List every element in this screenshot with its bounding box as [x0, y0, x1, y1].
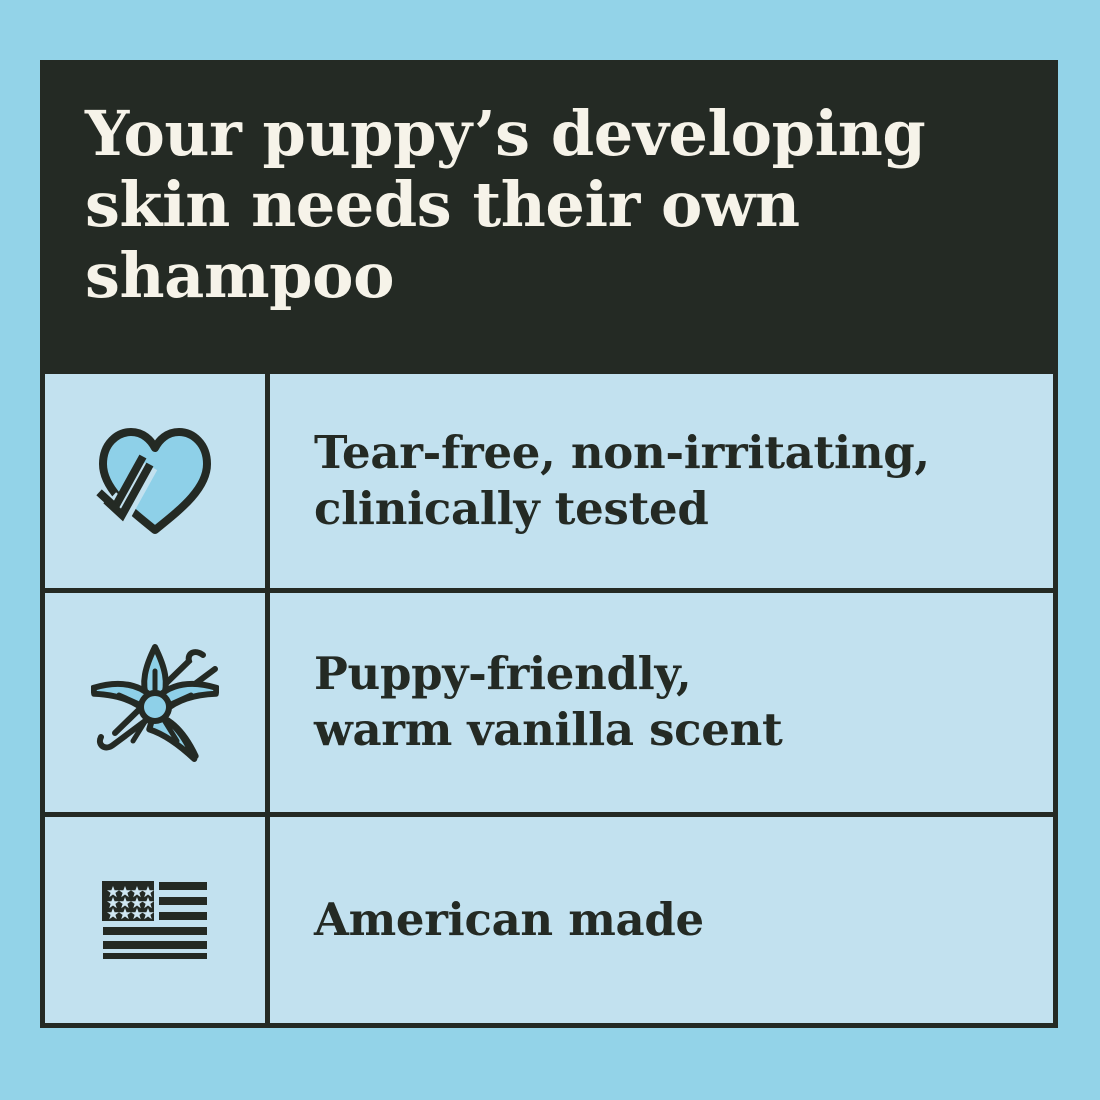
american-flag-icon: [90, 855, 220, 985]
benefits-table: Tear-free, non-irritating, clinically te…: [40, 369, 1058, 1028]
benefits-card: Your puppy’s developing skin needs their…: [40, 60, 1058, 1028]
benefit-label: Tear-free, non-irritating, clinically te…: [314, 425, 930, 537]
vanilla-flower-icon: [90, 637, 220, 767]
benefit-row: Puppy-friendly, warm vanilla scent: [45, 593, 1053, 811]
benefit-text-cell: Puppy-friendly, warm vanilla scent: [270, 593, 1053, 811]
heart-check-icon: [90, 416, 220, 546]
benefit-row: Tear-free, non-irritating, clinically te…: [45, 374, 1053, 588]
page-title: Your puppy’s developing skin needs their…: [85, 98, 1015, 311]
benefit-label: American made: [314, 892, 704, 948]
benefit-icon-cell: [45, 817, 265, 1023]
benefit-row: American made: [45, 817, 1053, 1023]
card-header: Your puppy’s developing skin needs their…: [40, 60, 1058, 369]
benefit-icon-cell: [45, 593, 265, 811]
benefit-icon-cell: [45, 374, 265, 588]
benefit-text-cell: American made: [270, 817, 1053, 1023]
benefit-text-cell: Tear-free, non-irritating, clinically te…: [270, 374, 1053, 588]
benefit-label: Puppy-friendly, warm vanilla scent: [314, 646, 783, 758]
